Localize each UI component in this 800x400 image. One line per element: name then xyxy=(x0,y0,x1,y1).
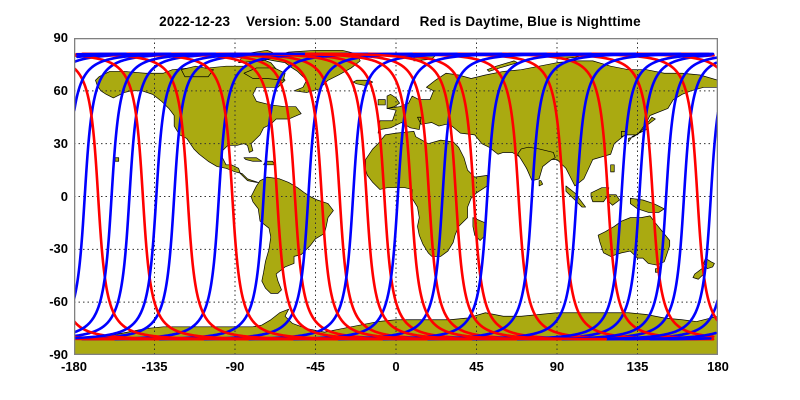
x-tick-label: -135 xyxy=(125,359,185,374)
y-tick-label: 60 xyxy=(28,83,68,98)
nighttime-track-segment xyxy=(650,338,710,339)
landmass-hawaii xyxy=(115,158,119,162)
x-tick-label: -45 xyxy=(286,359,346,374)
x-tick-label: 90 xyxy=(527,359,587,374)
plot-area xyxy=(74,38,718,355)
x-tick-label: -180 xyxy=(44,359,104,374)
ground-track-map-figure: 2022-12-23 Version: 5.00 Standard Red is… xyxy=(0,0,800,400)
y-tick-label: 30 xyxy=(28,136,68,151)
world-map-svg xyxy=(74,38,718,355)
x-tick-label: 180 xyxy=(688,359,748,374)
x-tick-label: 0 xyxy=(366,359,426,374)
x-tick-label: 135 xyxy=(608,359,668,374)
y-tick-label: 90 xyxy=(28,30,68,45)
y-tick-label: -60 xyxy=(28,294,68,309)
y-tick-label: -30 xyxy=(28,241,68,256)
x-tick-label: 45 xyxy=(447,359,507,374)
landmass-ireland xyxy=(378,100,385,105)
landmass-luzon xyxy=(611,165,615,172)
figure-title: 2022-12-23 Version: 5.00 Standard Red is… xyxy=(0,14,800,29)
x-tick-label: -90 xyxy=(205,359,265,374)
y-tick-label: 0 xyxy=(28,189,68,204)
